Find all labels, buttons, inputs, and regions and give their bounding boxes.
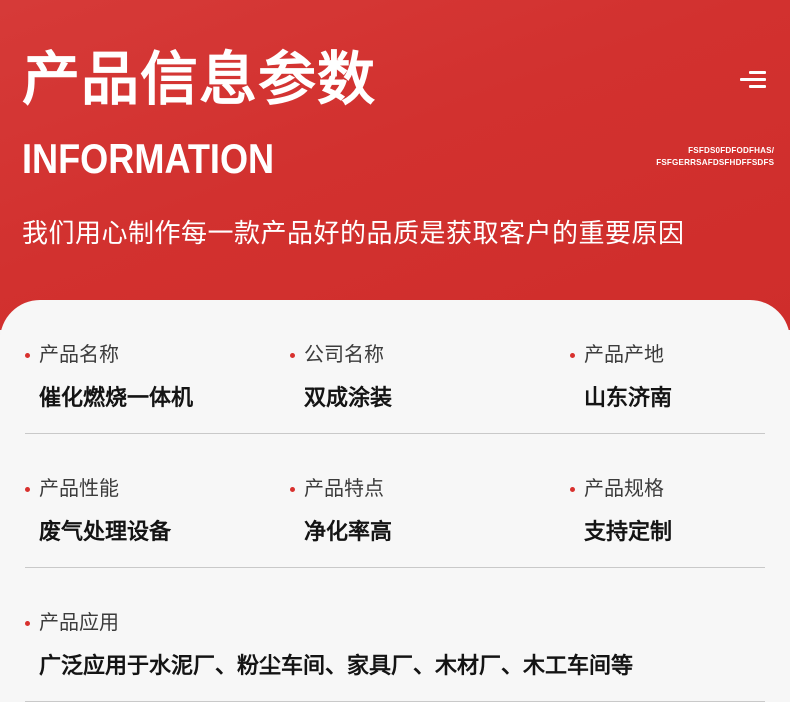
spec-value: 双成涂装 bbox=[290, 384, 570, 412]
spec-value: 支持定制 bbox=[570, 518, 765, 546]
hero-code-line-1: FSFDS0FDFODFHAS/ bbox=[656, 144, 774, 156]
spec-label: 产品性能 bbox=[25, 476, 290, 502]
spec-label: 产品应用 bbox=[25, 610, 765, 636]
spec-value: 废气处理设备 bbox=[25, 518, 290, 546]
spec-cell: 产品应用广泛应用于水泥厂、粉尘车间、家具厂、木材厂、木工车间等 bbox=[25, 568, 765, 702]
spec-row: 产品应用广泛应用于水泥厂、粉尘车间、家具厂、木材厂、木工车间等 bbox=[0, 568, 790, 702]
spec-label: 产品名称 bbox=[25, 342, 290, 368]
hero-banner: 产品信息参数 INFORMATION 我们用心制作每一款产品好的品质是获取客户的… bbox=[0, 0, 790, 330]
hero-tagline: 我们用心制作每一款产品好的品质是获取客户的重要原因 bbox=[22, 216, 685, 250]
spec-label: 公司名称 bbox=[290, 342, 570, 368]
spec-label: 产品产地 bbox=[570, 342, 765, 368]
spec-row: 产品名称催化燃烧一体机公司名称双成涂装产品产地山东济南 bbox=[0, 300, 790, 434]
spec-value: 山东济南 bbox=[570, 384, 765, 412]
spec-cell: 产品性能废气处理设备 bbox=[25, 434, 290, 568]
page-title: 产品信息参数 bbox=[22, 44, 376, 116]
spec-cell: 产品特点净化率高 bbox=[290, 434, 570, 568]
page-subtitle-english: INFORMATION bbox=[22, 135, 274, 183]
spec-cell: 产品规格支持定制 bbox=[570, 434, 765, 568]
product-info-page: 产品信息参数 INFORMATION 我们用心制作每一款产品好的品质是获取客户的… bbox=[0, 0, 790, 700]
hero-code-line-2: FSFGERRSAFDSFHDFFSDFS bbox=[656, 156, 774, 168]
spec-label: 产品规格 bbox=[570, 476, 765, 502]
hero-code-block: FSFDS0FDFODFHAS/ FSFGERRSAFDSFHDFFSDFS bbox=[656, 144, 774, 168]
hamburger-menu-icon[interactable] bbox=[740, 68, 766, 92]
menu-icon-line-bottom bbox=[749, 85, 766, 88]
spec-grid: 产品名称催化燃烧一体机公司名称双成涂装产品产地山东济南产品性能废气处理设备产品特… bbox=[0, 300, 790, 702]
spec-cell: 产品名称催化燃烧一体机 bbox=[25, 300, 290, 434]
spec-row: 产品性能废气处理设备产品特点净化率高产品规格支持定制 bbox=[0, 434, 790, 568]
spec-value: 净化率高 bbox=[290, 518, 570, 546]
spec-label: 产品特点 bbox=[290, 476, 570, 502]
menu-icon-line-middle bbox=[740, 78, 766, 81]
spec-value: 广泛应用于水泥厂、粉尘车间、家具厂、木材厂、木工车间等 bbox=[25, 652, 765, 680]
spec-value: 催化燃烧一体机 bbox=[25, 384, 290, 412]
menu-icon-line-top bbox=[749, 71, 766, 74]
spec-card: 产品名称催化燃烧一体机公司名称双成涂装产品产地山东济南产品性能废气处理设备产品特… bbox=[0, 300, 790, 700]
spec-cell: 产品产地山东济南 bbox=[570, 300, 765, 434]
spec-cell: 公司名称双成涂装 bbox=[290, 300, 570, 434]
